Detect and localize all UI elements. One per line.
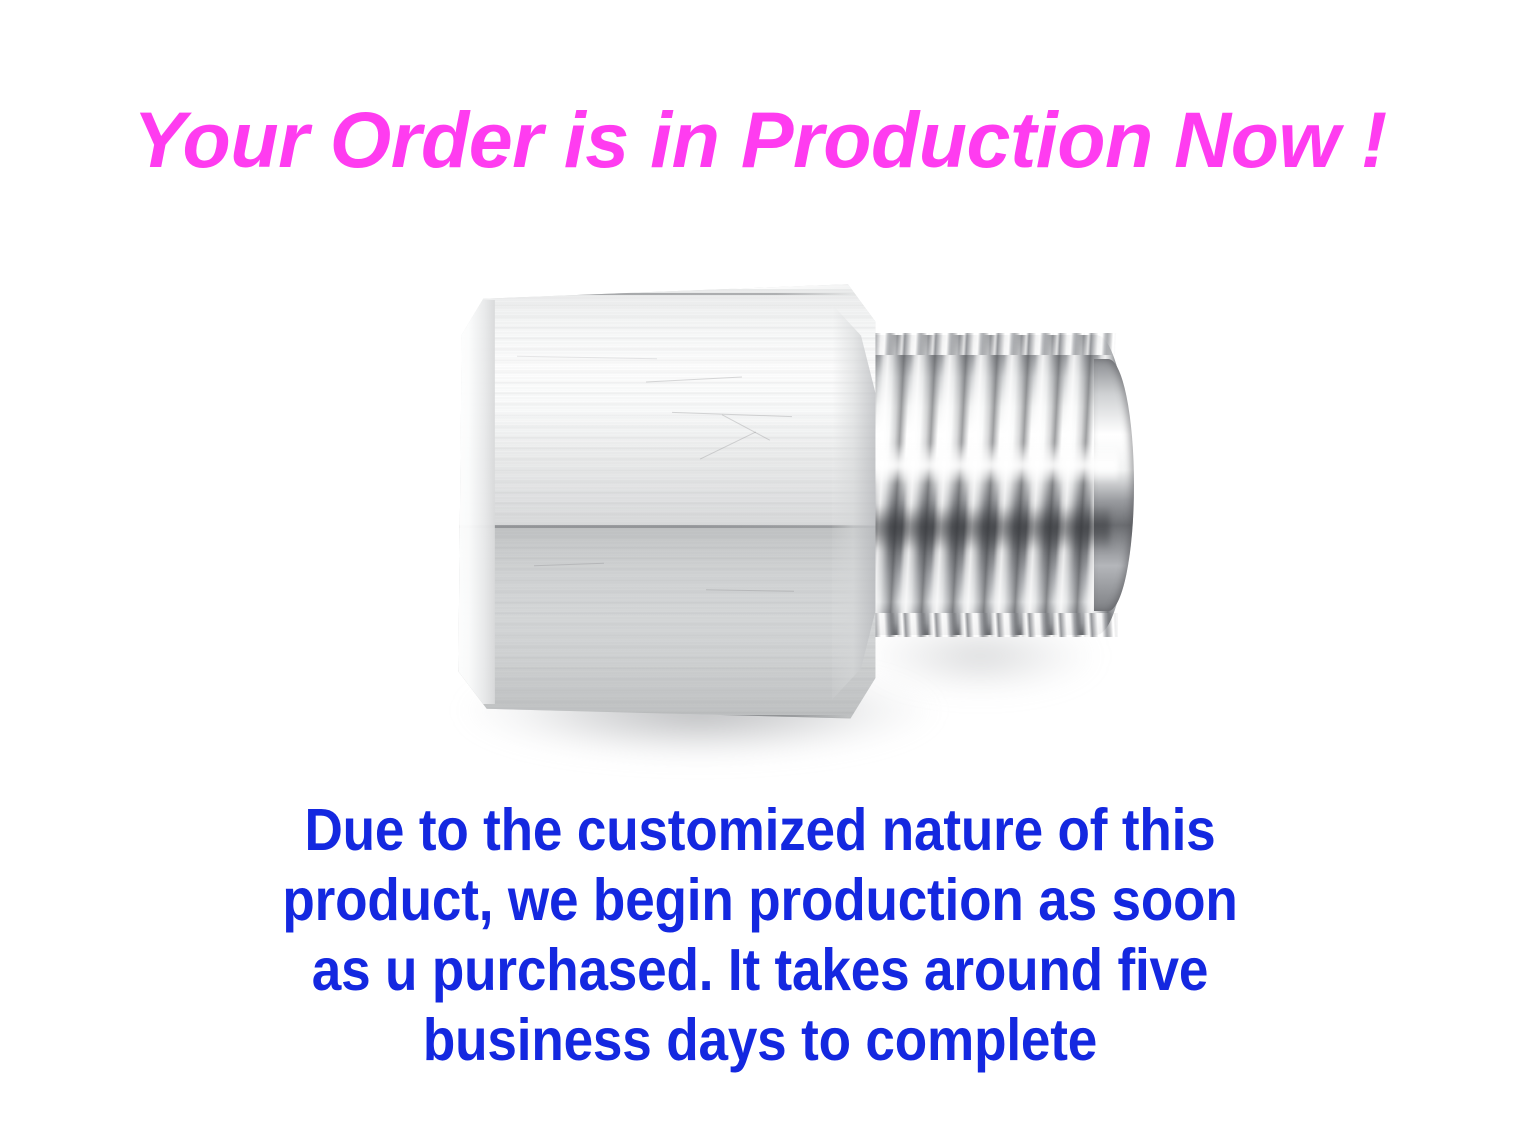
body-copy-line-2: product, we begin production as soon: [76, 865, 1444, 935]
product-photo: [380, 240, 1200, 780]
hex-left-chamfer: [454, 300, 495, 705]
body-copy-block: Due to the customized nature of this pro…: [76, 795, 1444, 1075]
hex-top-edge-line: [474, 293, 852, 295]
nipple-end-face: [1094, 359, 1134, 611]
body-copy-line-4: business days to complete: [76, 1005, 1444, 1075]
body-copy-line-1: Due to the customized nature of this: [76, 795, 1444, 865]
hex-bottom-edge-line: [478, 715, 848, 718]
hex-body: [448, 282, 878, 722]
nipple-thread-ridges: [850, 335, 1130, 635]
promo-image-canvas: Your Order is in Production Now !: [0, 0, 1520, 1140]
hex-body-surface: [448, 282, 878, 722]
hex-top-highlight: [470, 284, 857, 289]
nipple-thread-crests-bottom: [850, 613, 1118, 637]
threaded-nipple: [850, 335, 1130, 635]
nipple-thread-crests-top: [850, 333, 1118, 355]
hex-brushed-texture-2: [448, 282, 878, 722]
headline-text: Your Order is in Production Now !: [0, 96, 1520, 184]
body-copy-line-3: as u purchased. It takes around five: [76, 935, 1444, 1005]
